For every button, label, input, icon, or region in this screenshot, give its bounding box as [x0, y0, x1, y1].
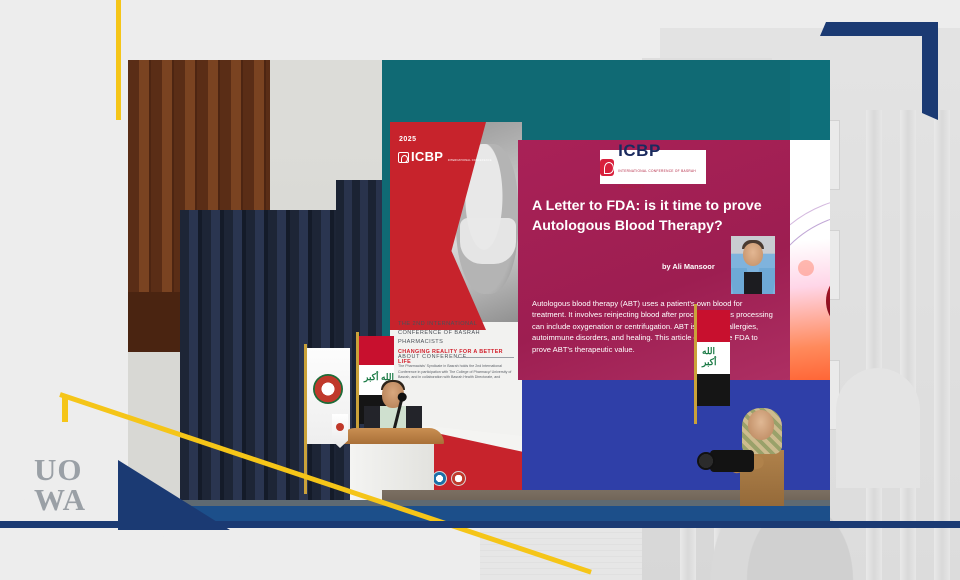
banner-headline-line2: CONFERENCE OF BASRAH PHARMACISTS	[398, 329, 514, 347]
slide-title: A Letter to FDA: is it time to prove Aut…	[532, 196, 782, 236]
gold-accent-bar	[116, 0, 121, 120]
banner-headline-line1: THE 2ND INTERNATIONAL	[398, 320, 514, 329]
banner-about-body: The Pharmacists' Syndicate in Basrah hol…	[398, 364, 514, 381]
corner-bracket-top-right	[820, 22, 938, 120]
banner-about-section: ABOUT CONFERENCE The Pharmacists' Syndic…	[398, 354, 514, 381]
banner-logo-sub: INTERNATIONAL CONFERENCE	[448, 159, 492, 162]
slide-logo-subtitle: INTERNATIONAL CONFERENCE OF BASRAH PHARM…	[618, 169, 696, 189]
uowa-logo-line2: WA	[34, 485, 86, 515]
slide-blood-graphic	[790, 140, 830, 380]
slide-icbp-logo: ICBP INTERNATIONAL CONFERENCE OF BASRAH …	[600, 150, 706, 184]
banner-rule	[456, 357, 514, 358]
slide-logo-name: ICBP	[618, 141, 661, 160]
sponsor-logo-icon	[451, 471, 466, 486]
uowa-logo-line1: UO	[34, 455, 86, 485]
uowa-logo: UO WA	[34, 455, 86, 515]
decorative-arc	[790, 212, 830, 380]
slide-body-text: Autologous blood therapy (ABT) uses a pa…	[532, 298, 776, 355]
poster-canvas: 2025 ICBP INTERNATIONAL CONFERENCE THE 2…	[0, 0, 960, 580]
icbp-mark-icon	[600, 159, 614, 176]
banner-icbp-logo: ICBP INTERNATIONAL CONFERENCE	[398, 148, 492, 166]
banner-year: 2025	[399, 136, 417, 143]
iraq-flag: الله أكبر	[696, 310, 730, 406]
slide-text-panel: ICBP INTERNATIONAL CONFERENCE OF BASRAH …	[518, 140, 790, 380]
banner-logo-name: ICBP	[411, 149, 443, 164]
presentation-slide: ICBP INTERNATIONAL CONFERENCE OF BASRAH …	[518, 140, 830, 380]
gold-diagonal-tip	[62, 396, 68, 422]
slide-byline: by Ali Mansoor	[662, 262, 715, 271]
syndicate-emblem-icon	[313, 374, 343, 404]
navy-footer-bar	[0, 521, 960, 528]
speaker-headshot	[731, 236, 775, 294]
icbp-mark-icon	[398, 152, 409, 163]
camera-icon	[710, 450, 754, 472]
